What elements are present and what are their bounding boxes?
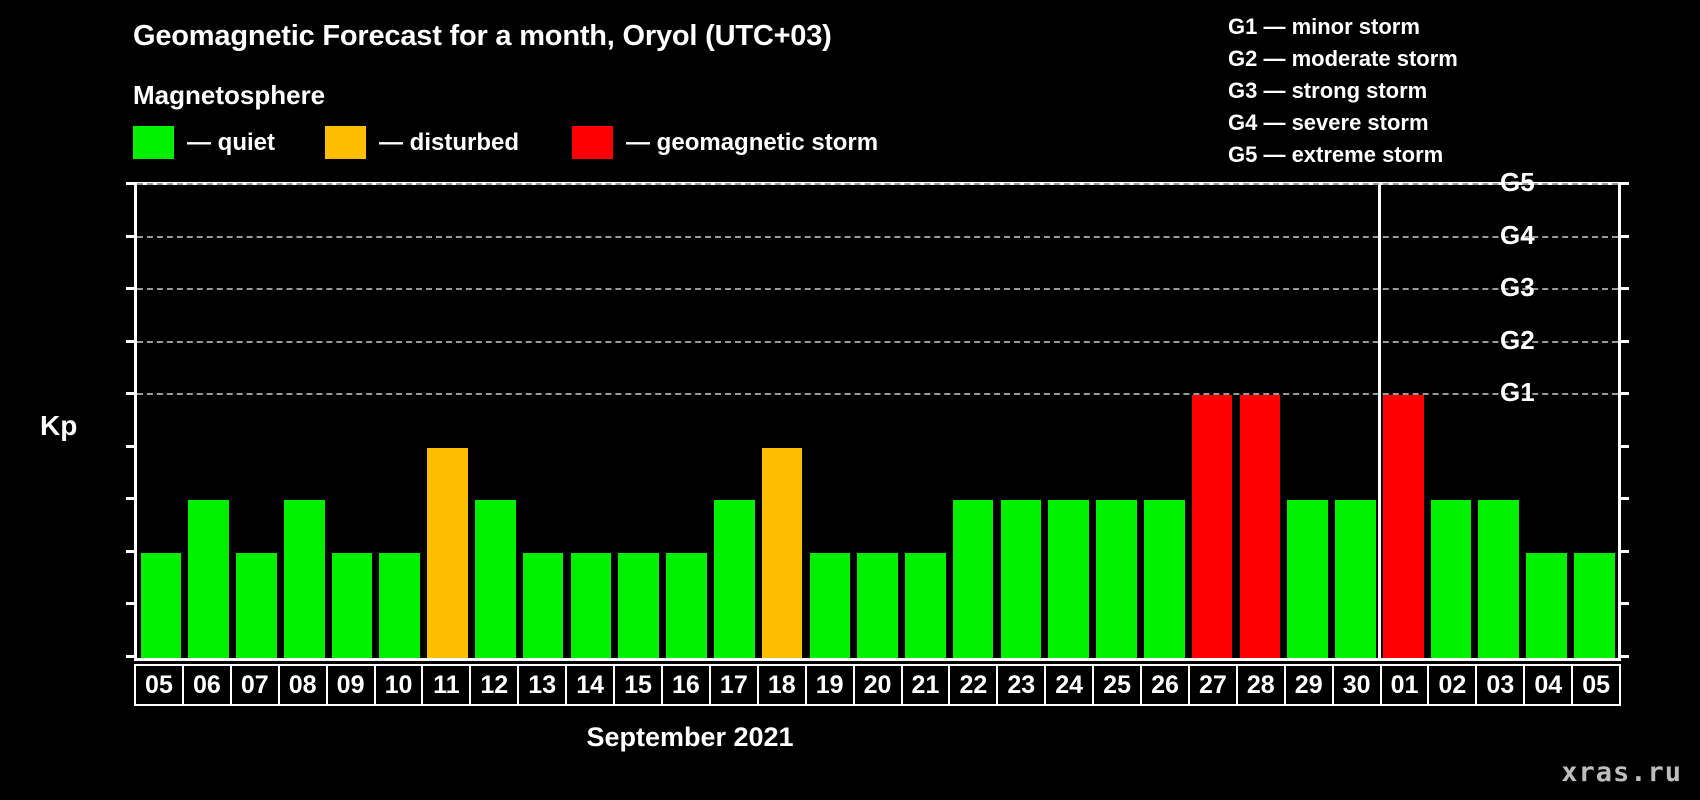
y-tick-right-7 [1618, 287, 1629, 290]
date-label-28[interactable]: 28 [1238, 666, 1286, 704]
bar-19-quiet[interactable] [810, 553, 851, 658]
bar-cell[interactable] [902, 185, 950, 658]
legend-label-quiet: — quiet [187, 129, 275, 157]
bar-30-quiet[interactable] [1335, 500, 1376, 658]
date-label-11[interactable]: 11 [423, 666, 471, 704]
storm-scale-g1: G1 — minor storm [1228, 11, 1458, 43]
y-tick-4 [126, 445, 137, 448]
legend-swatch-quiet [133, 126, 174, 159]
month-divider-line [1378, 185, 1381, 658]
bar-16-quiet[interactable] [666, 553, 707, 658]
legend-item-storm: — geomagnetic storm [572, 126, 878, 159]
bar-06-quiet[interactable] [188, 500, 229, 658]
date-label-21[interactable]: 21 [903, 666, 951, 704]
bar-cell[interactable] [1045, 185, 1093, 658]
date-label-06[interactable]: 06 [184, 666, 232, 704]
bar-cell[interactable] [185, 185, 233, 658]
y-tick-right-0 [1618, 655, 1629, 658]
date-label-15[interactable]: 15 [615, 666, 663, 704]
bar-cell[interactable] [1332, 185, 1380, 658]
bar-cell[interactable] [519, 185, 567, 658]
bar-09-quiet[interactable] [332, 553, 373, 658]
storm-scale-g5: G5 — extreme storm [1228, 139, 1458, 171]
date-label-14[interactable]: 14 [567, 666, 615, 704]
bar-12-quiet[interactable] [475, 500, 516, 658]
bar-10-quiet[interactable] [379, 553, 420, 658]
date-label-04[interactable]: 04 [1525, 666, 1573, 704]
y-tick-right-3 [1618, 497, 1629, 500]
y-tick-right-1 [1618, 602, 1629, 605]
legend-label-disturbed: — disturbed [379, 129, 519, 157]
storm-scale-g3: G3 — strong storm [1228, 75, 1458, 107]
date-label-03[interactable]: 03 [1477, 666, 1525, 704]
bar-cell[interactable] [997, 185, 1045, 658]
date-label-12[interactable]: 12 [471, 666, 519, 704]
date-label-24[interactable]: 24 [1046, 666, 1094, 704]
bar-20-quiet[interactable] [857, 553, 898, 658]
date-label-10[interactable]: 10 [376, 666, 424, 704]
bar-05-quiet[interactable] [141, 553, 182, 658]
bar-cell[interactable] [949, 185, 997, 658]
g-axis-label-G4: G4 [1500, 220, 1560, 251]
y-tick-0 [126, 655, 137, 658]
y-tick-3 [126, 497, 137, 500]
legend: — quiet — disturbed — geomagnetic storm [133, 126, 878, 159]
bar-29-quiet[interactable] [1287, 500, 1328, 658]
legend-swatch-storm [572, 126, 613, 159]
bar-cell[interactable] [758, 185, 806, 658]
date-label-13[interactable]: 13 [519, 666, 567, 704]
g-axis-label-G5: G5 [1500, 167, 1560, 198]
bar-cell[interactable] [806, 185, 854, 658]
bar-28-storm[interactable] [1240, 395, 1281, 658]
bar-11-disturbed[interactable] [427, 448, 468, 658]
y-tick-right-2 [1618, 550, 1629, 553]
storm-scale-legend: G1 — minor storm G2 — moderate storm G3 … [1228, 11, 1458, 171]
date-label-05[interactable]: 05 [136, 666, 184, 704]
bar-cell[interactable] [1475, 185, 1523, 658]
date-label-01[interactable]: 01 [1382, 666, 1430, 704]
y-tick-9 [126, 182, 137, 185]
x-axis-date-labels: 0506070809101112131415161718192021222324… [134, 664, 1621, 706]
date-label-25[interactable]: 25 [1094, 666, 1142, 704]
page-title: Geomagnetic Forecast for a month, Oryol … [133, 20, 832, 53]
bar-cell[interactable] [280, 185, 328, 658]
legend-swatch-disturbed [325, 126, 366, 159]
storm-scale-g2: G2 — moderate storm [1228, 43, 1458, 75]
date-label-22[interactable]: 22 [950, 666, 998, 704]
bar-cell[interactable] [1284, 185, 1332, 658]
date-label-07[interactable]: 07 [232, 666, 280, 704]
magnetosphere-heading: Magnetosphere [133, 80, 325, 111]
bar-24-quiet[interactable] [1048, 500, 1089, 658]
bar-cell[interactable] [1379, 185, 1427, 658]
bar-08-quiet[interactable] [284, 500, 325, 658]
date-label-17[interactable]: 17 [711, 666, 759, 704]
date-label-08[interactable]: 08 [280, 666, 328, 704]
bar-cell[interactable] [1140, 185, 1188, 658]
date-label-20[interactable]: 20 [855, 666, 903, 704]
y-tick-right-8 [1618, 235, 1629, 238]
geomagnetic-forecast-chart: Geomagnetic Forecast for a month, Oryol … [0, 0, 1700, 800]
bar-cell[interactable] [1523, 185, 1571, 658]
plot-area [134, 182, 1621, 661]
date-label-09[interactable]: 09 [328, 666, 376, 704]
date-label-02[interactable]: 02 [1429, 666, 1477, 704]
y-tick-right-4 [1618, 445, 1629, 448]
bar-cell[interactable] [854, 185, 902, 658]
g-axis-label-G1: G1 [1500, 377, 1560, 408]
bar-cell[interactable] [615, 185, 663, 658]
bar-03-quiet[interactable] [1478, 500, 1519, 658]
bar-cell[interactable] [567, 185, 615, 658]
bar-cell[interactable] [376, 185, 424, 658]
bar-25-quiet[interactable] [1096, 500, 1137, 658]
watermark: xras.ru [1561, 757, 1682, 788]
y-tick-5 [126, 392, 137, 395]
y-axis-title: Kp [40, 410, 77, 442]
legend-item-quiet: — quiet [133, 126, 275, 159]
bar-cell[interactable] [328, 185, 376, 658]
bar-cell[interactable] [1427, 185, 1475, 658]
bar-04-quiet[interactable] [1526, 553, 1567, 658]
date-label-16[interactable]: 16 [663, 666, 711, 704]
bar-01-storm[interactable] [1383, 395, 1424, 658]
bar-cell[interactable] [1093, 185, 1141, 658]
bar-02-quiet[interactable] [1431, 500, 1472, 658]
bar-cell[interactable] [424, 185, 472, 658]
bar-21-quiet[interactable] [905, 553, 946, 658]
bar-cell[interactable] [137, 185, 185, 658]
legend-item-disturbed: — disturbed [325, 126, 519, 159]
g-axis-label-G3: G3 [1500, 272, 1560, 303]
bar-15-quiet[interactable] [618, 553, 659, 658]
g-axis-label-G2: G2 [1500, 325, 1560, 356]
bar-cell[interactable] [1188, 185, 1236, 658]
date-label-05[interactable]: 05 [1573, 666, 1619, 704]
bar-14-quiet[interactable] [571, 553, 612, 658]
y-tick-right-9 [1618, 182, 1629, 185]
bar-cell[interactable] [1570, 185, 1618, 658]
bar-cell[interactable] [710, 185, 758, 658]
y-tick-2 [126, 550, 137, 553]
bar-17-quiet[interactable] [714, 500, 755, 658]
storm-scale-g4: G4 — severe storm [1228, 107, 1458, 139]
bar-cell[interactable] [471, 185, 519, 658]
date-label-23[interactable]: 23 [998, 666, 1046, 704]
y-tick-7 [126, 287, 137, 290]
date-label-27[interactable]: 27 [1190, 666, 1238, 704]
bar-22-quiet[interactable] [953, 500, 994, 658]
legend-label-storm: — geomagnetic storm [626, 129, 878, 157]
bar-26-quiet[interactable] [1144, 500, 1185, 658]
date-label-30[interactable]: 30 [1334, 666, 1382, 704]
bar-23-quiet[interactable] [1001, 500, 1042, 658]
bar-cell[interactable] [233, 185, 281, 658]
date-label-18[interactable]: 18 [759, 666, 807, 704]
x-axis-caption: September 2021 [586, 722, 793, 753]
y-tick-right-6 [1618, 340, 1629, 343]
bar-series [137, 185, 1618, 658]
date-label-19[interactable]: 19 [807, 666, 855, 704]
date-label-29[interactable]: 29 [1286, 666, 1334, 704]
bar-05-quiet[interactable] [1574, 553, 1615, 658]
bar-cell[interactable] [1236, 185, 1284, 658]
date-label-26[interactable]: 26 [1142, 666, 1190, 704]
y-tick-1 [126, 602, 137, 605]
y-tick-6 [126, 340, 137, 343]
y-tick-8 [126, 235, 137, 238]
bar-18-disturbed[interactable] [762, 448, 803, 658]
bar-cell[interactable] [663, 185, 711, 658]
x-axis-caption-wrap: September 2021 [0, 722, 1700, 753]
bar-27-storm[interactable] [1192, 395, 1233, 658]
y-tick-right-5 [1618, 392, 1629, 395]
bar-07-quiet[interactable] [236, 553, 277, 658]
bar-13-quiet[interactable] [523, 553, 564, 658]
